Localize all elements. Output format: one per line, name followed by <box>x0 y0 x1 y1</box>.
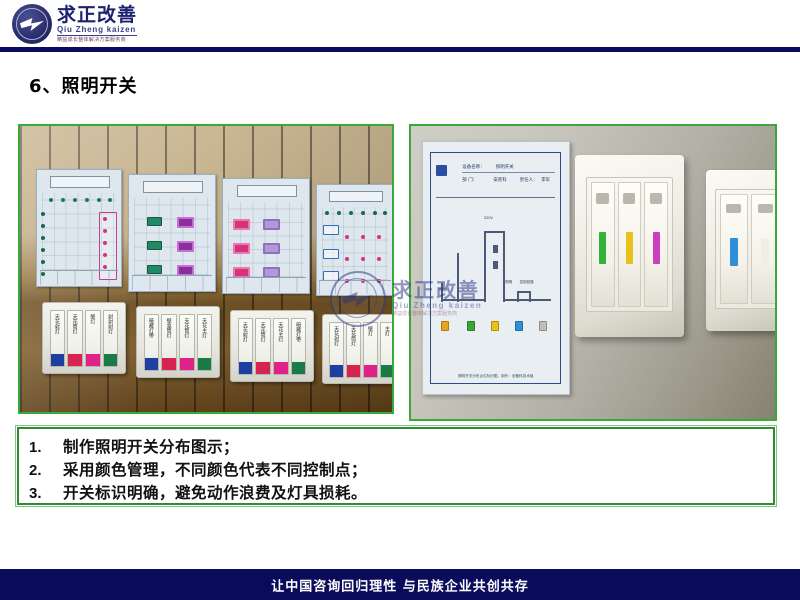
switch-key-label: 壁灯 <box>89 314 96 324</box>
brand-tagline: 精益成长整体解决方案服务商 <box>57 37 137 44</box>
three-gang-switch[interactable] <box>575 155 684 337</box>
board-marker-chip <box>147 217 162 226</box>
board-marker-chip <box>263 219 280 230</box>
board-grid <box>228 202 304 277</box>
switch-key[interactable]: 主灯 <box>380 322 394 378</box>
board-marker-chip <box>147 265 162 274</box>
switch-key-label: 暗藏灯带 <box>148 318 155 338</box>
list-item-number: 2. <box>29 462 63 479</box>
board-legend <box>319 280 390 294</box>
switch-key-color-tag <box>730 238 738 266</box>
board-marker-chip <box>177 241 194 252</box>
switch-key-label: 天花筒灯 <box>350 326 357 346</box>
switch-key-color-swatch <box>104 354 118 366</box>
switch-key[interactable]: 天花主灯 <box>197 314 213 371</box>
list-item: 2. 采用颜色管理，不同颜色代表不同控制点； <box>29 458 773 481</box>
board-marker-dot <box>41 224 45 228</box>
diagram-node <box>515 321 523 331</box>
switch-key[interactable] <box>751 194 777 303</box>
switch-key-label: 天花射灯 <box>242 322 249 342</box>
switch-key-color-tag <box>599 232 606 264</box>
switch-key[interactable] <box>644 182 668 306</box>
list-item: 3. 开关标识明确，避免动作浪费及灯具损耗。 <box>29 481 773 504</box>
brand-logo: 求正改善 Qiu Zheng kaizen 精益成长整体解决方案服务商 <box>12 3 162 45</box>
switch-key-color-swatch <box>68 354 82 366</box>
board-marker-dot <box>108 198 112 202</box>
diagram-label-b: 照明 <box>505 280 512 285</box>
switch-key-label: 暗藏灯带 <box>295 322 302 342</box>
poster-wiring-diagram: 220V 开关1 照明 控制回路 <box>436 212 555 348</box>
switch-key-color-swatch <box>86 354 100 366</box>
header-divider <box>0 47 800 52</box>
list-item-text: 开关标识明确，避免动作浪费及灯具损耗。 <box>63 481 367 503</box>
switch-key-label: 天花筒灯 <box>183 318 190 338</box>
distribution-board <box>222 178 310 294</box>
diagram-node <box>491 321 499 331</box>
switch-key-slot <box>623 193 635 204</box>
page-footer: 让中国咨询回归理性 与民族企业共创共存 <box>0 569 800 600</box>
switch-key[interactable]: 天花筒灯 <box>255 318 271 375</box>
poster-header-label-2: 部 门： <box>462 177 477 183</box>
switch-key[interactable]: 天花射灯 <box>50 310 66 367</box>
switch-key-slot <box>596 193 608 204</box>
circular-swoosh-logo-icon <box>12 4 52 44</box>
board-title-bar <box>143 181 203 193</box>
switch-key-color-tag <box>653 232 660 264</box>
page-header: 求正改善 Qiu Zheng kaizen 精益成长整体解决方案服务商 <box>0 0 800 52</box>
distribution-board <box>36 169 122 287</box>
switch-key-label: 壁龛筒灯 <box>166 318 173 338</box>
switch-key[interactable]: 天花筒灯 <box>67 310 83 367</box>
poster-header-value-1: 照明开关 <box>496 164 514 170</box>
poster-logo-icon <box>436 165 447 176</box>
board-legend <box>132 275 213 290</box>
switch-key-label: 天花筒灯 <box>260 322 267 342</box>
board-grid <box>322 207 389 280</box>
brand-name-cn: 求正改善 <box>57 5 137 25</box>
page-title: 6、照明开关 <box>29 72 138 98</box>
list-item-number: 1. <box>29 439 63 456</box>
switch-key-slot <box>726 204 741 214</box>
switch-key-color-tag <box>626 232 633 264</box>
switch-key-color-swatch <box>381 365 394 377</box>
switch-key-color-swatch <box>145 358 159 370</box>
diagram-node <box>539 321 547 331</box>
switch-key[interactable]: 暗藏灯带 <box>291 318 307 375</box>
switch-plate[interactable]: 天花射灯 天花筒灯 壁灯 射射射灯 <box>42 302 126 374</box>
board-marker-dot <box>41 260 45 264</box>
diagram-voltage-label: 220V <box>484 215 493 220</box>
board-marker-chip <box>263 243 280 254</box>
poster-header-value-2: 安装科 <box>493 177 507 183</box>
switch-key-color-tag <box>761 238 769 266</box>
board-legend <box>226 277 307 292</box>
switch-key[interactable] <box>720 194 748 303</box>
brand-name-en: Qiu Zheng kaizen <box>57 25 137 36</box>
switch-key-label: 壁灯 <box>367 326 374 336</box>
diagram-node <box>441 321 449 331</box>
board-marker-dot <box>49 198 53 202</box>
switch-key-label: 天花主灯 <box>277 322 284 342</box>
poster-header: 设备名称： 照明开关 部 门： 安装科 责任人： 李军 <box>436 162 555 198</box>
switch-key-label: 天花筒灯 <box>72 314 79 334</box>
board-marker-chip <box>147 241 162 250</box>
distribution-board <box>316 184 394 296</box>
board-marker-dot <box>73 198 77 202</box>
board-title-bar <box>50 176 109 188</box>
switch-key[interactable]: 天花射灯 <box>329 322 344 378</box>
diagram-label-c: 控制回路 <box>520 280 534 285</box>
board-marker-chip <box>233 243 250 254</box>
board-legend <box>40 270 119 285</box>
poster-header-label-1: 设备名称： <box>462 164 485 170</box>
switch-key[interactable]: 壁龛筒灯 <box>161 314 177 371</box>
list-item-number: 3. <box>29 485 63 502</box>
board-marker-dot <box>85 198 89 202</box>
key-points-box: 1. 制作照明开关分布图示； 2. 采用颜色管理，不同颜色代表不同控制点； 3.… <box>17 427 775 505</box>
board-title-bar <box>329 191 383 203</box>
board-title-bar <box>237 185 297 197</box>
switch-key[interactable]: 天花筒灯 <box>346 322 361 378</box>
board-marker-dot <box>41 212 45 216</box>
switch-key-color-swatch <box>180 358 194 370</box>
board-marker-outline <box>323 249 339 259</box>
switch-key-color-swatch <box>51 354 65 366</box>
switch-key[interactable]: 天花射灯 <box>238 318 254 375</box>
poster-header-value-3: 李军 <box>541 177 550 183</box>
switch-key-label: 天花射灯 <box>54 314 61 334</box>
switch-key-color-swatch <box>198 358 212 370</box>
switch-key[interactable] <box>591 182 615 306</box>
list-item-text: 采用颜色管理，不同颜色代表不同控制点； <box>63 458 367 480</box>
switch-key-label: 主灯 <box>384 326 391 336</box>
board-marker-dot <box>97 198 101 202</box>
switch-plate[interactable]: 天花射灯 天花筒灯 壁灯 主灯 <box>322 314 394 384</box>
wall-switch-color-label-photo: 设备名称： 照明开关 部 门： 安装科 责任人： 李军 220V 开关1 照明 <box>409 124 777 421</box>
switch-key-slot <box>758 204 773 214</box>
switch-plate[interactable]: 天花射灯 天花筒灯 天花主灯 暗藏灯带 <box>230 310 314 382</box>
distribution-board <box>128 174 216 292</box>
board-marker-dot <box>61 198 65 202</box>
switch-key[interactable]: 壁灯 <box>85 310 101 367</box>
diagram-node <box>467 321 475 331</box>
diagram-label-a: 开关1 <box>438 288 447 293</box>
footer-slogan: 让中国咨询回归理性 与民族企业共创共存 <box>0 575 800 594</box>
list-item: 1. 制作照明开关分布图示； <box>29 435 773 458</box>
switch-key-color-swatch <box>347 365 360 377</box>
poster-header-label-3: 责任人： <box>520 177 538 183</box>
board-marker-dot <box>41 236 45 240</box>
board-grid <box>134 198 210 275</box>
switch-key[interactable]: 射射射灯 <box>103 310 119 367</box>
switch-key[interactable] <box>618 182 642 306</box>
switch-key-color-swatch <box>162 358 176 370</box>
switch-key[interactable]: 壁灯 <box>363 322 378 378</box>
switch-key-color-swatch <box>292 362 306 374</box>
switch-key-color-swatch <box>364 365 377 377</box>
switch-key[interactable]: 暗藏灯带 <box>144 314 160 371</box>
switch-key-slot <box>650 193 662 204</box>
switch-key-color-swatch <box>274 362 288 374</box>
board-marker-chip <box>233 219 250 230</box>
switch-key-label: 射射射灯 <box>107 314 114 334</box>
brand-logo-text: 求正改善 Qiu Zheng kaizen 精益成长整体解决方案服务商 <box>57 5 137 44</box>
list-item-text: 制作照明开关分布图示； <box>63 435 239 457</box>
switch-key[interactable]: 天花主灯 <box>273 318 289 375</box>
switch-key[interactable]: 天花筒灯 <box>179 314 195 371</box>
switch-plate[interactable]: 暗藏灯带 壁龛筒灯 天花筒灯 天花主灯 <box>136 306 220 378</box>
board-marker-chip <box>177 217 194 228</box>
poster-footer-note: 照明开关分布点位标识图，制作：设备科技术组 <box>440 374 551 379</box>
switch-layout-poster: 设备名称： 照明开关 部 门： 安装科 责任人： 李军 220V 开关1 照明 <box>422 141 570 395</box>
switch-key-color-swatch <box>330 365 343 377</box>
switch-key-label: 天花主灯 <box>201 318 208 338</box>
switch-key-color-swatch <box>239 362 253 374</box>
lighting-switch-distribution-boards-photo: 天花射灯 天花筒灯 壁灯 射射射灯 暗藏灯带 壁龛筒灯 <box>18 124 394 414</box>
two-gang-switch[interactable] <box>706 170 777 331</box>
board-marker-outline <box>323 225 339 235</box>
switch-key-color-swatch <box>256 362 270 374</box>
switch-key-label: 天花射灯 <box>333 326 340 346</box>
board-marker-dot <box>41 248 45 252</box>
